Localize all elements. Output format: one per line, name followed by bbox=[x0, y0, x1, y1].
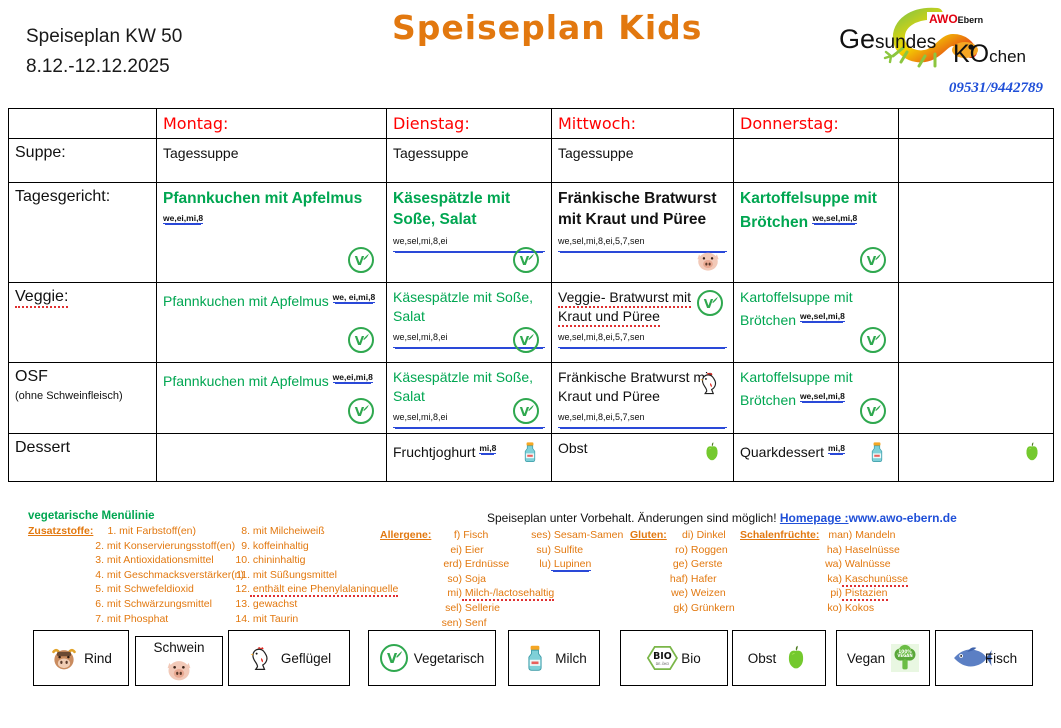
allergen-codes: we,ei,mi,8 bbox=[333, 372, 373, 383]
legend-item: 11. mit Süßungsmittel bbox=[228, 568, 398, 583]
menu-cell bbox=[899, 434, 1054, 482]
legend-item: sel) Sellerie bbox=[436, 601, 554, 616]
legend-box-label: Vegetarisch bbox=[414, 651, 485, 666]
legend-item: ko) Kokos bbox=[812, 601, 908, 616]
column-header-dienstag: Dienstag: bbox=[387, 109, 552, 139]
gluten-col: Gluten: di) Dinkel ro) Roggenge) Gersteh… bbox=[630, 528, 735, 616]
legend-item: 9. koffeinhaltig bbox=[228, 539, 398, 554]
zusatzstoffe-heading: Zusatzstoffe: bbox=[28, 525, 93, 537]
legend-item-label: mit Taurin bbox=[250, 613, 298, 625]
vegetarian-icon: V bbox=[380, 644, 408, 672]
legend-box-label: Bio bbox=[681, 651, 701, 666]
legend-item-label: Sesam-Samen bbox=[551, 529, 623, 541]
allergen-codes: we, ei,mi,8 bbox=[333, 292, 376, 303]
milk-icon bbox=[519, 441, 541, 463]
apple-icon bbox=[701, 441, 723, 463]
icon-legend-bar: RindSchweinGeflügelVVegetarischMilchBIOD… bbox=[0, 630, 1061, 692]
legend-box-bio: BIODE-ÖKOBio bbox=[620, 630, 728, 686]
legend-item-code: ha) bbox=[812, 543, 842, 558]
column-header-empty bbox=[899, 109, 1054, 139]
menu-table: Montag: Dienstag: Mittwoch: Donnerstag: … bbox=[8, 108, 1054, 482]
menu-cell bbox=[734, 139, 899, 183]
menu-cell: Fruchtjoghurt mi,8 bbox=[387, 434, 552, 482]
menu-cell-content: Kartoffelsuppe mit Brötchen we,sel,mi,8V bbox=[740, 288, 892, 357]
allergen-codes: we,sel,mi,8 bbox=[800, 311, 845, 322]
menu-cell: Kartoffelsuppe mit Brötchen we,sel,mi,8V bbox=[734, 363, 899, 434]
vegetarian-icon: V bbox=[513, 327, 539, 353]
legend-box-label: Rind bbox=[84, 651, 112, 666]
menu-cell-content bbox=[905, 188, 1047, 277]
allergen-codes: we,sel,mi,8,ei,5,7,sen bbox=[558, 328, 727, 348]
apple-icon bbox=[1021, 441, 1043, 463]
menu-cell bbox=[899, 139, 1054, 183]
legend-item-code: su) bbox=[525, 543, 551, 558]
legend-item-label: Erdnüsse bbox=[462, 558, 509, 570]
table-row-dessert: DessertFruchtjoghurt mi,8Obst Quarkdesse… bbox=[9, 434, 1054, 482]
legend-box-vegan: Vegan100%VEGAN bbox=[836, 630, 930, 686]
legend-item-label: Fisch bbox=[460, 529, 488, 541]
legend-item-code: gk) bbox=[664, 601, 688, 616]
zusatzstoffe-col-b: 8. mit Milcheiweiß9. koffeinhaltig10. ch… bbox=[228, 524, 398, 626]
legend-item: ro) Roggen bbox=[664, 543, 735, 558]
legend-item-label: mit Schwefeldioxid bbox=[104, 583, 194, 595]
legend-item: so) Soja bbox=[436, 572, 554, 587]
legend-box-label: Fisch bbox=[985, 651, 1017, 666]
table-body: Suppe:Tagessuppe Tagessuppe Tagessuppe T… bbox=[9, 139, 1054, 482]
legend-item-code: 14. bbox=[228, 612, 250, 627]
legend-item: pi) Pistazien bbox=[812, 586, 908, 601]
menu-cell-content bbox=[905, 144, 1047, 177]
svg-text:V: V bbox=[519, 405, 529, 419]
legend-item-label: Walnüsse bbox=[842, 558, 891, 570]
column-header-donnerstag: Donnerstag: bbox=[734, 109, 899, 139]
menu-cell-content: Tagessuppe bbox=[393, 144, 545, 177]
legend-item-code: 13. bbox=[228, 597, 250, 612]
vegetarian-icon: V bbox=[697, 290, 723, 316]
menu-cell: Quarkdessert mi,8 bbox=[734, 434, 899, 482]
schalenfruechte-col: Schalenfrüchte: man) Mandeln ha) Haselnü… bbox=[740, 528, 908, 616]
menu-cell: Käsespätzle mit Soße, Salat we,sel,mi,8,… bbox=[387, 283, 552, 363]
menu-cell-content: Käsespätzle mit Soße, Salat we,sel,mi,8,… bbox=[393, 188, 545, 277]
legend-box-geflgel: Geflügel bbox=[228, 630, 350, 686]
legend-box-rind: Rind bbox=[33, 630, 129, 686]
menu-cell: Fränkische Bratwurst mit Kraut und Püree… bbox=[552, 363, 734, 434]
legend-item-label: Grünkern bbox=[688, 602, 735, 614]
homepage-label[interactable]: Homepage : bbox=[780, 511, 849, 525]
menu-cell: Veggie- Bratwurst mit Kraut und Püree we… bbox=[552, 283, 734, 363]
legend-item-label: Soja bbox=[462, 573, 486, 585]
legend-item-code: we) bbox=[664, 586, 688, 601]
legend-item-code: erd) bbox=[436, 557, 462, 572]
svg-text:V: V bbox=[354, 254, 364, 268]
svg-text:V: V bbox=[866, 334, 876, 348]
menu-cell-content bbox=[905, 439, 1047, 476]
allergen-codes: mi,8 bbox=[479, 443, 496, 454]
dish-name: Käsespätzle mit Soße, Salat bbox=[393, 190, 510, 228]
menu-cell-content: Pfannkuchen mit Apfelmus we, ei,mi,8V bbox=[163, 288, 380, 357]
legend-item-code: mi) bbox=[436, 586, 462, 601]
legend-item-label: Haselnüsse bbox=[842, 544, 900, 556]
row-label-osf: OSF(ohne Schweinfleisch) bbox=[9, 363, 157, 434]
svg-text:V: V bbox=[519, 334, 529, 348]
fish-icon bbox=[951, 644, 979, 672]
menu-cell: Pfannkuchen mit Apfelmus we,ei,mi,8V bbox=[157, 183, 387, 283]
legend-item: mi) Milch-/lactosehaltig bbox=[436, 586, 554, 601]
week-info: Speiseplan KW 50 8.12.-12.12.2025 bbox=[26, 22, 182, 82]
legend-item-code: f) bbox=[434, 528, 460, 543]
allergene-heading: Allergene: bbox=[380, 529, 431, 541]
svg-text:V: V bbox=[703, 297, 713, 311]
svg-text:V: V bbox=[866, 405, 876, 419]
row-label-veggie: Veggie: bbox=[9, 283, 157, 363]
legend-item: 6. mit Schwärzungsmittel bbox=[84, 597, 244, 612]
dish-name: Käsespätzle mit Soße, Salat bbox=[393, 289, 533, 324]
legend-item: ka) Kaschunüsse bbox=[812, 572, 908, 587]
menu-cell: Fränkische Bratwurst mit Kraut und Püree… bbox=[552, 183, 734, 283]
menu-cell-content: Pfannkuchen mit Apfelmus we,ei,mi,8V bbox=[163, 368, 380, 428]
table-row-tagesgericht: Tagesgericht:Pfannkuchen mit Apfelmus we… bbox=[9, 183, 1054, 283]
legend-item: 2. mit Konservierungsstoff(en) bbox=[84, 539, 244, 554]
table-header-row: Montag: Dienstag: Mittwoch: Donnerstag: bbox=[9, 109, 1054, 139]
legend-item-code: 3. bbox=[84, 553, 104, 568]
logo-word-kochen: KOchen bbox=[953, 40, 1026, 69]
legend-item: 8. mit Milcheiweiß bbox=[228, 524, 398, 539]
legend-item-code: 4. bbox=[84, 568, 104, 583]
svg-text:V: V bbox=[866, 254, 876, 268]
legend-item: ses) Sesam-Samen bbox=[525, 528, 623, 543]
legend-item-label: Eier bbox=[462, 544, 484, 556]
menu-cell-content: Kartoffelsuppe mit Brötchen we,sel,mi,8V bbox=[740, 188, 892, 277]
menu-cell-content: Obst bbox=[558, 439, 727, 476]
vegetarian-icon: V bbox=[860, 247, 886, 273]
column-header-montag: Montag: bbox=[157, 109, 387, 139]
legend-item-label: koffeinhaltig bbox=[250, 540, 309, 552]
menu-cell: Pfannkuchen mit Apfelmus we, ei,mi,8V bbox=[157, 283, 387, 363]
legend-item-label: Kaschunüsse bbox=[842, 573, 908, 587]
legend-item: 14. mit Taurin bbox=[228, 612, 398, 627]
table-row-veggie: Veggie:Pfannkuchen mit Apfelmus we, ei,m… bbox=[9, 283, 1054, 363]
legend-item: lu) Lupinen bbox=[525, 557, 623, 572]
menu-cell-content: Fränkische Bratwurst mit Kraut und Püree… bbox=[558, 188, 727, 277]
schalenfruechte-heading: Schalenfrüchte: bbox=[740, 529, 819, 541]
legend-item-label: enthält eine Phenylalaninquelle bbox=[250, 583, 398, 597]
svg-text:DE-ÖKO: DE-ÖKO bbox=[656, 661, 670, 666]
vegetarian-line-note: vegetarische Menülinie bbox=[28, 510, 155, 522]
menu-cell bbox=[899, 283, 1054, 363]
milk-icon bbox=[521, 644, 549, 672]
legend-box-label: Schwein bbox=[153, 640, 204, 655]
chicken-icon bbox=[697, 370, 723, 396]
table-row-suppe: Suppe:Tagessuppe Tagessuppe Tagessuppe bbox=[9, 139, 1054, 183]
vegetarian-icon: V bbox=[348, 247, 374, 273]
menu-cell-content: Fruchtjoghurt mi,8 bbox=[393, 439, 545, 476]
dish-name: Veggie- Bratwurst mit Kraut und Püree bbox=[558, 289, 691, 327]
legend-item-code: 10. bbox=[228, 553, 250, 568]
allergen-codes: we,ei,mi,8 bbox=[163, 213, 203, 224]
legend-item-label: Sellerie bbox=[462, 602, 500, 614]
legend-item-label: Dinkel bbox=[694, 529, 726, 541]
row-label-dessert: Dessert bbox=[9, 434, 157, 482]
legend-item-code: ka) bbox=[812, 572, 842, 587]
menu-cell-content: Fränkische Bratwurst mit Kraut und Püree… bbox=[558, 368, 727, 428]
legend-item-label: Sulfite bbox=[551, 544, 583, 556]
legend-item: 7. mit Phosphat bbox=[84, 612, 244, 627]
legend-box-label: Vegan bbox=[847, 651, 885, 666]
legend-item-code: 5. bbox=[84, 582, 104, 597]
menu-cell-content: Kartoffelsuppe mit Brötchen we,sel,mi,8V bbox=[740, 368, 892, 428]
allergen-codes: mi,8 bbox=[828, 443, 845, 454]
svg-text:V: V bbox=[354, 405, 364, 419]
allergene-col-b: ses) Sesam-Samensu) Sulfitelu) Lupinen bbox=[525, 528, 623, 572]
vegetarian-icon: V bbox=[348, 327, 374, 353]
legend-item: ge) Gerste bbox=[664, 557, 735, 572]
legend-item-code: wa) bbox=[812, 557, 842, 572]
dish-name: Kartoffelsuppe mit Brötchen bbox=[740, 190, 877, 231]
legend-item-code: 12. bbox=[228, 582, 250, 597]
menu-cell-content bbox=[905, 368, 1047, 428]
svg-text:V: V bbox=[354, 334, 364, 348]
legend-item-label: chininhaltig bbox=[250, 554, 305, 566]
page-title: Speiseplan Kids bbox=[392, 8, 702, 47]
legend-item: 10. chininhaltig bbox=[228, 553, 398, 568]
legend-box-label: Milch bbox=[555, 651, 587, 666]
legend-item: 3. mit Antioxidationsmittel bbox=[84, 553, 244, 568]
dish-name: Pfannkuchen mit Apfelmus bbox=[163, 293, 333, 309]
dish-name: Fränkische Bratwurst mit Kraut und Püree bbox=[558, 369, 712, 404]
menu-cell-content: Quarkdessert mi,8 bbox=[740, 439, 892, 476]
notice-line: Speiseplan unter Vorbehalt. Änderungen s… bbox=[487, 511, 957, 525]
page-header: Speiseplan KW 50 8.12.-12.12.2025 Speise… bbox=[0, 0, 1061, 105]
legend-item-code: ro) bbox=[664, 543, 688, 558]
legend-item-code: man) bbox=[822, 528, 852, 543]
logo-word-gesundes: Gesundes bbox=[839, 24, 936, 55]
pig-icon bbox=[165, 655, 193, 683]
legend-item-label: mit Konservierungsstoff(en) bbox=[104, 540, 235, 552]
legend-item-code: lu) bbox=[525, 557, 551, 572]
legend-box-obst: Obst bbox=[732, 630, 826, 686]
menu-cell: Tagessuppe bbox=[157, 139, 387, 183]
menu-cell: Käsespätzle mit Soße, Salat we,sel,mi,8,… bbox=[387, 363, 552, 434]
row-sublabel: (ohne Schweinfleisch) bbox=[15, 390, 150, 402]
menu-cell: Kartoffelsuppe mit Brötchen we,sel,mi,8V bbox=[734, 283, 899, 363]
legend-item-label: mit Schwärzungsmittel bbox=[104, 598, 212, 610]
menu-cell: Obst bbox=[552, 434, 734, 482]
allergen-codes: we,sel,mi,8,ei,5,7,sen bbox=[558, 408, 727, 428]
legend-item-label: Gerste bbox=[688, 558, 722, 570]
legend-box-schwein: Schwein bbox=[135, 636, 223, 686]
legend-item-label: gewachst bbox=[250, 598, 297, 610]
legend-item: su) Sulfite bbox=[525, 543, 623, 558]
menu-cell-content: Tagessuppe bbox=[558, 144, 727, 177]
corner-cell bbox=[9, 109, 157, 139]
legend-item-code: ses) bbox=[525, 528, 551, 543]
bio-icon: BIODE-ÖKO bbox=[647, 644, 675, 672]
legend-item: 13. gewachst bbox=[228, 597, 398, 612]
milk-icon bbox=[866, 441, 888, 463]
menu-cell: Pfannkuchen mit Apfelmus we,ei,mi,8V bbox=[157, 363, 387, 434]
legend-item: ha) Haselnüsse bbox=[812, 543, 908, 558]
legend-item-code: pi) bbox=[812, 586, 842, 601]
menu-cell bbox=[899, 363, 1054, 434]
dish-name: Tagessuppe bbox=[558, 145, 634, 161]
dish-name: Obst bbox=[558, 440, 588, 456]
vegetarian-icon: V bbox=[513, 247, 539, 273]
vegan-icon: 100%VEGAN bbox=[891, 644, 919, 672]
legend-item-code: 2. bbox=[84, 539, 104, 554]
menu-cell-content bbox=[905, 288, 1047, 357]
dish-name: Fruchtjoghurt bbox=[393, 444, 479, 460]
notice-text: Speiseplan unter Vorbehalt. Änderungen s… bbox=[487, 511, 777, 525]
vegetarian-icon: V bbox=[860, 398, 886, 424]
dish-name: Tagessuppe bbox=[163, 145, 239, 161]
legend-box-label: Geflügel bbox=[281, 651, 331, 666]
legend-item-label: mit Süßungsmittel bbox=[250, 569, 337, 581]
legend-item: we) Weizen bbox=[664, 586, 735, 601]
legend-item-label: mit Farbstoff(en) bbox=[116, 525, 196, 537]
legend-item: 4. mit Geschmacksverstärker(n) bbox=[84, 568, 244, 583]
row-label-suppe: Suppe: bbox=[9, 139, 157, 183]
additives-allergens-legend: Zusatzstoffe: 1. mit Farbstoff(en) 2. mi… bbox=[0, 524, 1061, 624]
legend-item: sen) Senf bbox=[436, 616, 554, 631]
logo-artwork: AWOEbern Gesundes KOchen bbox=[831, 4, 1053, 76]
dish-name: Fränkische Bratwurst mit Kraut und Püree bbox=[558, 190, 717, 228]
row-label-text: Suppe: bbox=[15, 144, 66, 161]
legend-item-code: 1. bbox=[96, 524, 116, 539]
zusatzstoffe-col-a: Zusatzstoffe: 1. mit Farbstoff(en) 2. mi… bbox=[28, 524, 244, 626]
legend-item: 12. enthält eine Phenylalaninquelle bbox=[228, 582, 398, 597]
table-row-osf: OSF(ohne Schweinfleisch)Pfannkuchen mit … bbox=[9, 363, 1054, 434]
legend-item-label: Senf bbox=[462, 617, 487, 629]
dish-name: Kartoffelsuppe mit Brötchen bbox=[740, 289, 853, 328]
legend-item-label: Pistazien bbox=[842, 587, 888, 601]
phone-number: 09531/9442789 bbox=[949, 80, 1043, 97]
legend-item-code: 6. bbox=[84, 597, 104, 612]
legend-item-code: 8. bbox=[228, 524, 250, 539]
menu-cell: Tagessuppe bbox=[552, 139, 734, 183]
legend-item-label: Kokos bbox=[842, 602, 874, 614]
menu-cell bbox=[899, 183, 1054, 283]
legend-item-label: mit Antioxidationsmittel bbox=[104, 554, 214, 566]
legend-item-code: 9. bbox=[228, 539, 250, 554]
legend-item: haf) Hafer bbox=[664, 572, 735, 587]
legend-item-label: Roggen bbox=[688, 544, 728, 556]
legend-item-label: Mandeln bbox=[852, 529, 895, 541]
legend-item-code: 7. bbox=[84, 612, 104, 627]
date-range: 8.12.-12.12.2025 bbox=[26, 52, 182, 82]
svg-text:V: V bbox=[519, 254, 529, 268]
pig-icon bbox=[695, 247, 721, 273]
vegetarian-icon: V bbox=[860, 327, 886, 353]
menu-cell bbox=[157, 434, 387, 482]
svg-text:V: V bbox=[387, 652, 398, 667]
vegetarian-icon: V bbox=[513, 398, 539, 424]
menu-cell: Kartoffelsuppe mit Brötchen we,sel,mi,8V bbox=[734, 183, 899, 283]
legend-item-label: Lupinen bbox=[551, 558, 591, 571]
allergen-codes: we,sel,mi,8 bbox=[812, 213, 857, 224]
menu-cell-content: Pfannkuchen mit Apfelmus we,ei,mi,8V bbox=[163, 188, 380, 277]
cow-icon bbox=[50, 644, 78, 672]
legend-item: 5. mit Schwefeldioxid bbox=[84, 582, 244, 597]
menu-cell-content bbox=[163, 439, 380, 476]
row-label-text: Dessert bbox=[15, 439, 70, 456]
svg-text:BIO: BIO bbox=[653, 651, 672, 662]
week-label: Speiseplan KW 50 bbox=[26, 22, 182, 52]
legend-item: gk) Grünkern bbox=[664, 601, 735, 616]
legend-item-code: sel) bbox=[436, 601, 462, 616]
vegetarian-icon: V bbox=[348, 398, 374, 424]
allergen-codes: we,sel,mi,8 bbox=[800, 391, 845, 402]
menu-cell: Tagessuppe bbox=[387, 139, 552, 183]
legend-item-label: mit Geschmacksverstärker(n) bbox=[104, 569, 244, 581]
column-header-mittwoch: Mittwoch: bbox=[552, 109, 734, 139]
legend-item-code: ge) bbox=[664, 557, 688, 572]
legend-box-milch: Milch bbox=[508, 630, 600, 686]
legend-item-label: Milch-/lactosehaltig bbox=[462, 587, 554, 601]
menu-cell-content bbox=[740, 144, 892, 177]
legend-box-label: Obst bbox=[748, 651, 777, 666]
dish-name: Pfannkuchen mit Apfelmus bbox=[163, 190, 362, 207]
legend-item-label: Weizen bbox=[688, 587, 726, 599]
apple-icon bbox=[782, 644, 810, 672]
logo: AWOEbern Gesundes KOchen 09531/9442789 bbox=[831, 4, 1053, 102]
homepage-url[interactable]: www.awo-ebern.de bbox=[849, 511, 957, 525]
menu-cell-content: Käsespätzle mit Soße, Salat we,sel,mi,8,… bbox=[393, 368, 545, 428]
dish-name: Quarkdessert bbox=[740, 444, 828, 460]
legend-item-label: Hafer bbox=[688, 573, 717, 585]
row-label-tagesgericht: Tagesgericht: bbox=[9, 183, 157, 283]
row-label-text: OSF bbox=[15, 368, 48, 385]
legend-item-code: sen) bbox=[436, 616, 462, 631]
menu-cell-content: Käsespätzle mit Soße, Salat we,sel,mi,8,… bbox=[393, 288, 545, 357]
legend-item-code: di) bbox=[670, 528, 694, 543]
menu-cell: Käsespätzle mit Soße, Salat we,sel,mi,8,… bbox=[387, 183, 552, 283]
legend-item: wa) Walnüsse bbox=[812, 557, 908, 572]
menu-cell-content: Veggie- Bratwurst mit Kraut und Püree we… bbox=[558, 288, 727, 357]
legend-item-code: ei) bbox=[436, 543, 462, 558]
legend-item-code: so) bbox=[436, 572, 462, 587]
legend-box-fisch: Fisch bbox=[935, 630, 1033, 686]
legend-item-code: ko) bbox=[812, 601, 842, 616]
gluten-heading: Gluten: bbox=[630, 529, 667, 541]
legend-item-label: mit Phosphat bbox=[104, 613, 168, 625]
legend-item-code: 11. bbox=[228, 568, 250, 583]
dish-name: Tagessuppe bbox=[393, 145, 469, 161]
legend-item-code: haf) bbox=[664, 572, 688, 587]
legend-box-vegetarisch: VVegetarisch bbox=[368, 630, 496, 686]
chicken-icon bbox=[247, 644, 275, 672]
svg-text:VEGAN: VEGAN bbox=[898, 653, 913, 658]
awo-badge-sub: Ebern bbox=[958, 15, 984, 25]
menu-cell-content: Tagessuppe bbox=[163, 144, 380, 177]
dish-name: Pfannkuchen mit Apfelmus bbox=[163, 373, 333, 389]
legend-item-label: mit Milcheiweiß bbox=[250, 525, 325, 537]
row-label-text: Tagesgericht: bbox=[15, 188, 110, 205]
row-label-text: Veggie: bbox=[15, 288, 68, 308]
dish-name: Kartoffelsuppe mit Brötchen bbox=[740, 369, 853, 408]
